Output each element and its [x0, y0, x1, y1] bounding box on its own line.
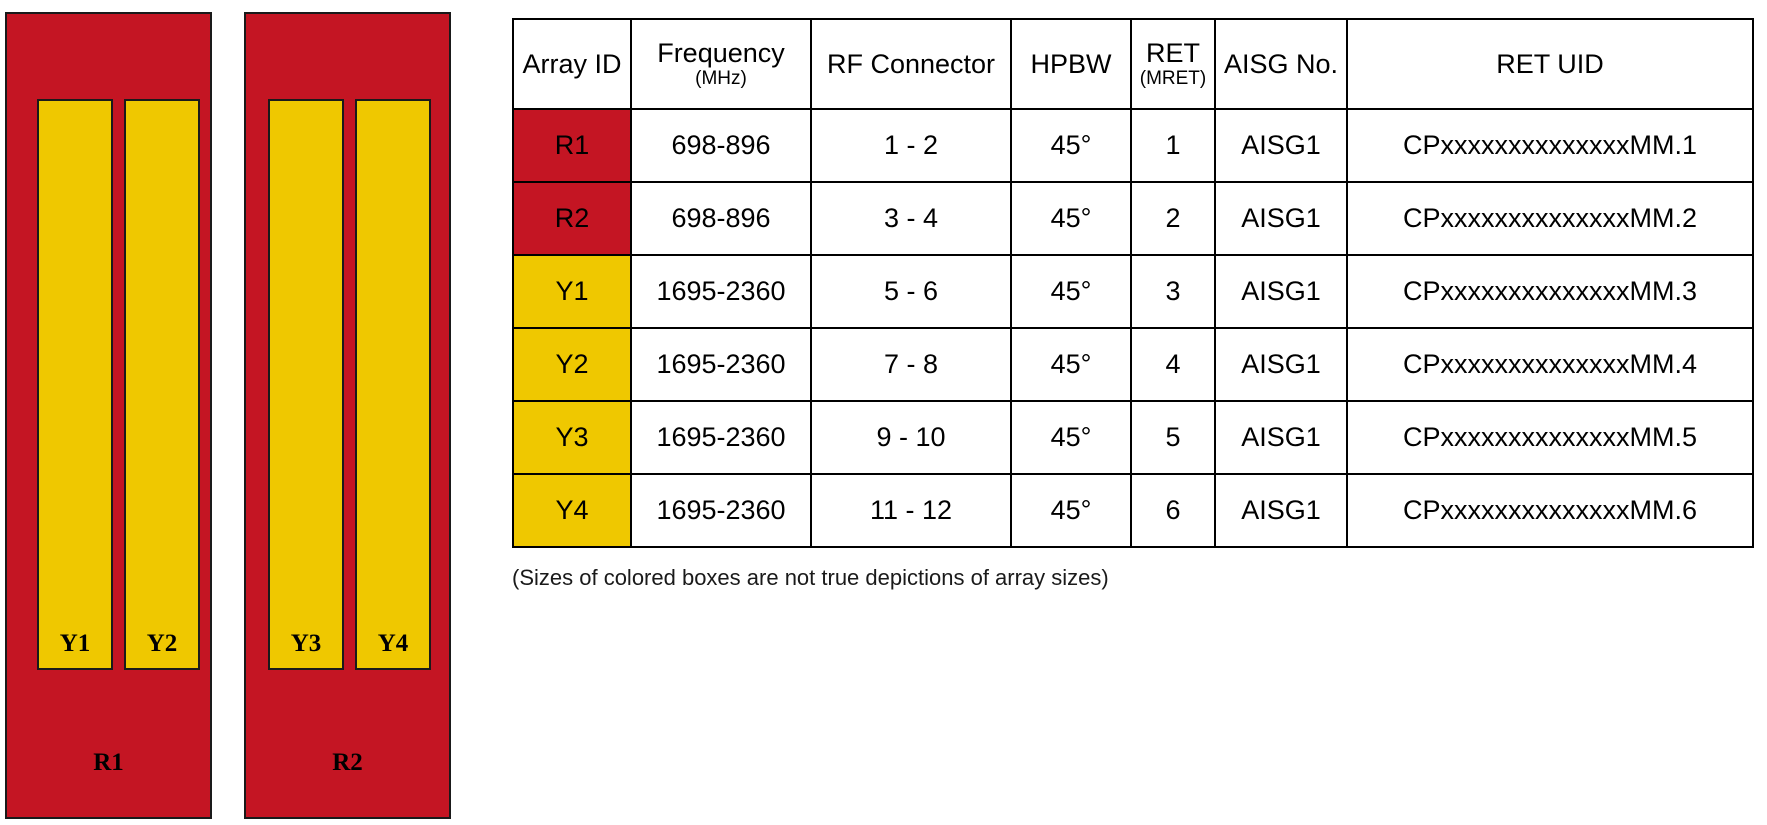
- cell-array-id: Y3: [513, 401, 631, 474]
- subarray-label-y3: Y3: [270, 631, 342, 656]
- subarray-label-y4: Y4: [357, 631, 429, 656]
- column-header-ret-uid-text: RET UID: [1496, 49, 1604, 79]
- cell-frequency: 1695-2360: [631, 474, 811, 547]
- cell-frequency: 698-896: [631, 182, 811, 255]
- table-row: Y1 1695-2360 5 - 6 45° 3 AISG1 CPxxxxxxx…: [513, 255, 1753, 328]
- cell-aisg-no: AISG1: [1215, 328, 1347, 401]
- antenna-panel-r1: Y1 Y2 R1: [5, 12, 212, 819]
- table-row: Y3 1695-2360 9 - 10 45° 5 AISG1 CPxxxxxx…: [513, 401, 1753, 474]
- cell-array-id: Y1: [513, 255, 631, 328]
- subarray-block-y2: Y2: [124, 99, 200, 670]
- cell-hpbw: 45°: [1011, 328, 1131, 401]
- cell-array-id: R1: [513, 109, 631, 182]
- column-header-hpbw: HPBW: [1011, 19, 1131, 109]
- antenna-panel-r2: Y3 Y4 R2: [244, 12, 451, 819]
- cell-hpbw: 45°: [1011, 109, 1131, 182]
- cell-frequency: 1695-2360: [631, 401, 811, 474]
- cell-ret-uid: CPxxxxxxxxxxxxxxMM.2: [1347, 182, 1753, 255]
- cell-ret: 3: [1131, 255, 1215, 328]
- cell-frequency: 1695-2360: [631, 255, 811, 328]
- antenna-array-diagram: Y1 Y2 R1 Y3 Y4 R2: [0, 12, 440, 822]
- column-header-frequency: Frequency (MHz): [631, 19, 811, 109]
- cell-aisg-no: AISG1: [1215, 474, 1347, 547]
- column-header-frequency-unit: (MHz): [632, 69, 810, 90]
- cell-ret-uid: CPxxxxxxxxxxxxxxMM.5: [1347, 401, 1753, 474]
- array-specification-table: Array ID Frequency (MHz) RF Connector HP…: [512, 18, 1754, 548]
- column-header-array-id-text: Array ID: [522, 49, 621, 79]
- column-header-array-id: Array ID: [513, 19, 631, 109]
- table-row: Y4 1695-2360 11 - 12 45° 6 AISG1 CPxxxxx…: [513, 474, 1753, 547]
- cell-hpbw: 45°: [1011, 255, 1131, 328]
- subarray-block-y4: Y4: [355, 99, 431, 670]
- column-header-aisg-no: AISG No.: [1215, 19, 1347, 109]
- table-row: R2 698-896 3 - 4 45° 2 AISG1 CPxxxxxxxxx…: [513, 182, 1753, 255]
- column-header-hpbw-text: HPBW: [1031, 49, 1112, 79]
- subarray-label-y1: Y1: [39, 631, 111, 656]
- table-row: R1 698-896 1 - 2 45° 1 AISG1 CPxxxxxxxxx…: [513, 109, 1753, 182]
- cell-rf-connector: 5 - 6: [811, 255, 1011, 328]
- column-header-rf-connector: RF Connector: [811, 19, 1011, 109]
- table-row: Y2 1695-2360 7 - 8 45° 4 AISG1 CPxxxxxxx…: [513, 328, 1753, 401]
- cell-aisg-no: AISG1: [1215, 255, 1347, 328]
- cell-hpbw: 45°: [1011, 474, 1131, 547]
- panel-label-r1: R1: [7, 750, 210, 775]
- cell-aisg-no: AISG1: [1215, 182, 1347, 255]
- cell-array-id: R2: [513, 182, 631, 255]
- cell-ret: 2: [1131, 182, 1215, 255]
- cell-ret: 1: [1131, 109, 1215, 182]
- cell-frequency: 1695-2360: [631, 328, 811, 401]
- subarray-block-y3: Y3: [268, 99, 344, 670]
- subarray-label-y2: Y2: [126, 631, 198, 656]
- cell-ret: 4: [1131, 328, 1215, 401]
- cell-rf-connector: 7 - 8: [811, 328, 1011, 401]
- diagram-size-disclaimer-note: (Sizes of colored boxes are not true dep…: [512, 565, 1109, 591]
- cell-rf-connector: 11 - 12: [811, 474, 1011, 547]
- cell-ret-uid: CPxxxxxxxxxxxxxxMM.1: [1347, 109, 1753, 182]
- array-specification-table-container: Array ID Frequency (MHz) RF Connector HP…: [512, 18, 1752, 548]
- cell-array-id: Y2: [513, 328, 631, 401]
- cell-aisg-no: AISG1: [1215, 109, 1347, 182]
- cell-ret: 6: [1131, 474, 1215, 547]
- cell-frequency: 698-896: [631, 109, 811, 182]
- cell-hpbw: 45°: [1011, 401, 1131, 474]
- column-header-ret-sub: (MRET): [1132, 69, 1214, 90]
- cell-aisg-no: AISG1: [1215, 401, 1347, 474]
- subarray-block-y1: Y1: [37, 99, 113, 670]
- column-header-rf-connector-text: RF Connector: [827, 49, 995, 79]
- column-header-ret-uid: RET UID: [1347, 19, 1753, 109]
- cell-rf-connector: 3 - 4: [811, 182, 1011, 255]
- cell-ret: 5: [1131, 401, 1215, 474]
- column-header-frequency-text: Frequency: [657, 38, 785, 68]
- cell-rf-connector: 1 - 2: [811, 109, 1011, 182]
- cell-array-id: Y4: [513, 474, 631, 547]
- cell-ret-uid: CPxxxxxxxxxxxxxxMM.3: [1347, 255, 1753, 328]
- cell-ret-uid: CPxxxxxxxxxxxxxxMM.4: [1347, 328, 1753, 401]
- table-header-row: Array ID Frequency (MHz) RF Connector HP…: [513, 19, 1753, 109]
- cell-rf-connector: 9 - 10: [811, 401, 1011, 474]
- cell-ret-uid: CPxxxxxxxxxxxxxxMM.6: [1347, 474, 1753, 547]
- panel-label-r2: R2: [246, 750, 449, 775]
- cell-hpbw: 45°: [1011, 182, 1131, 255]
- column-header-ret-text: RET: [1146, 38, 1200, 68]
- column-header-ret: RET (MRET): [1131, 19, 1215, 109]
- column-header-aisg-no-text: AISG No.: [1224, 49, 1338, 79]
